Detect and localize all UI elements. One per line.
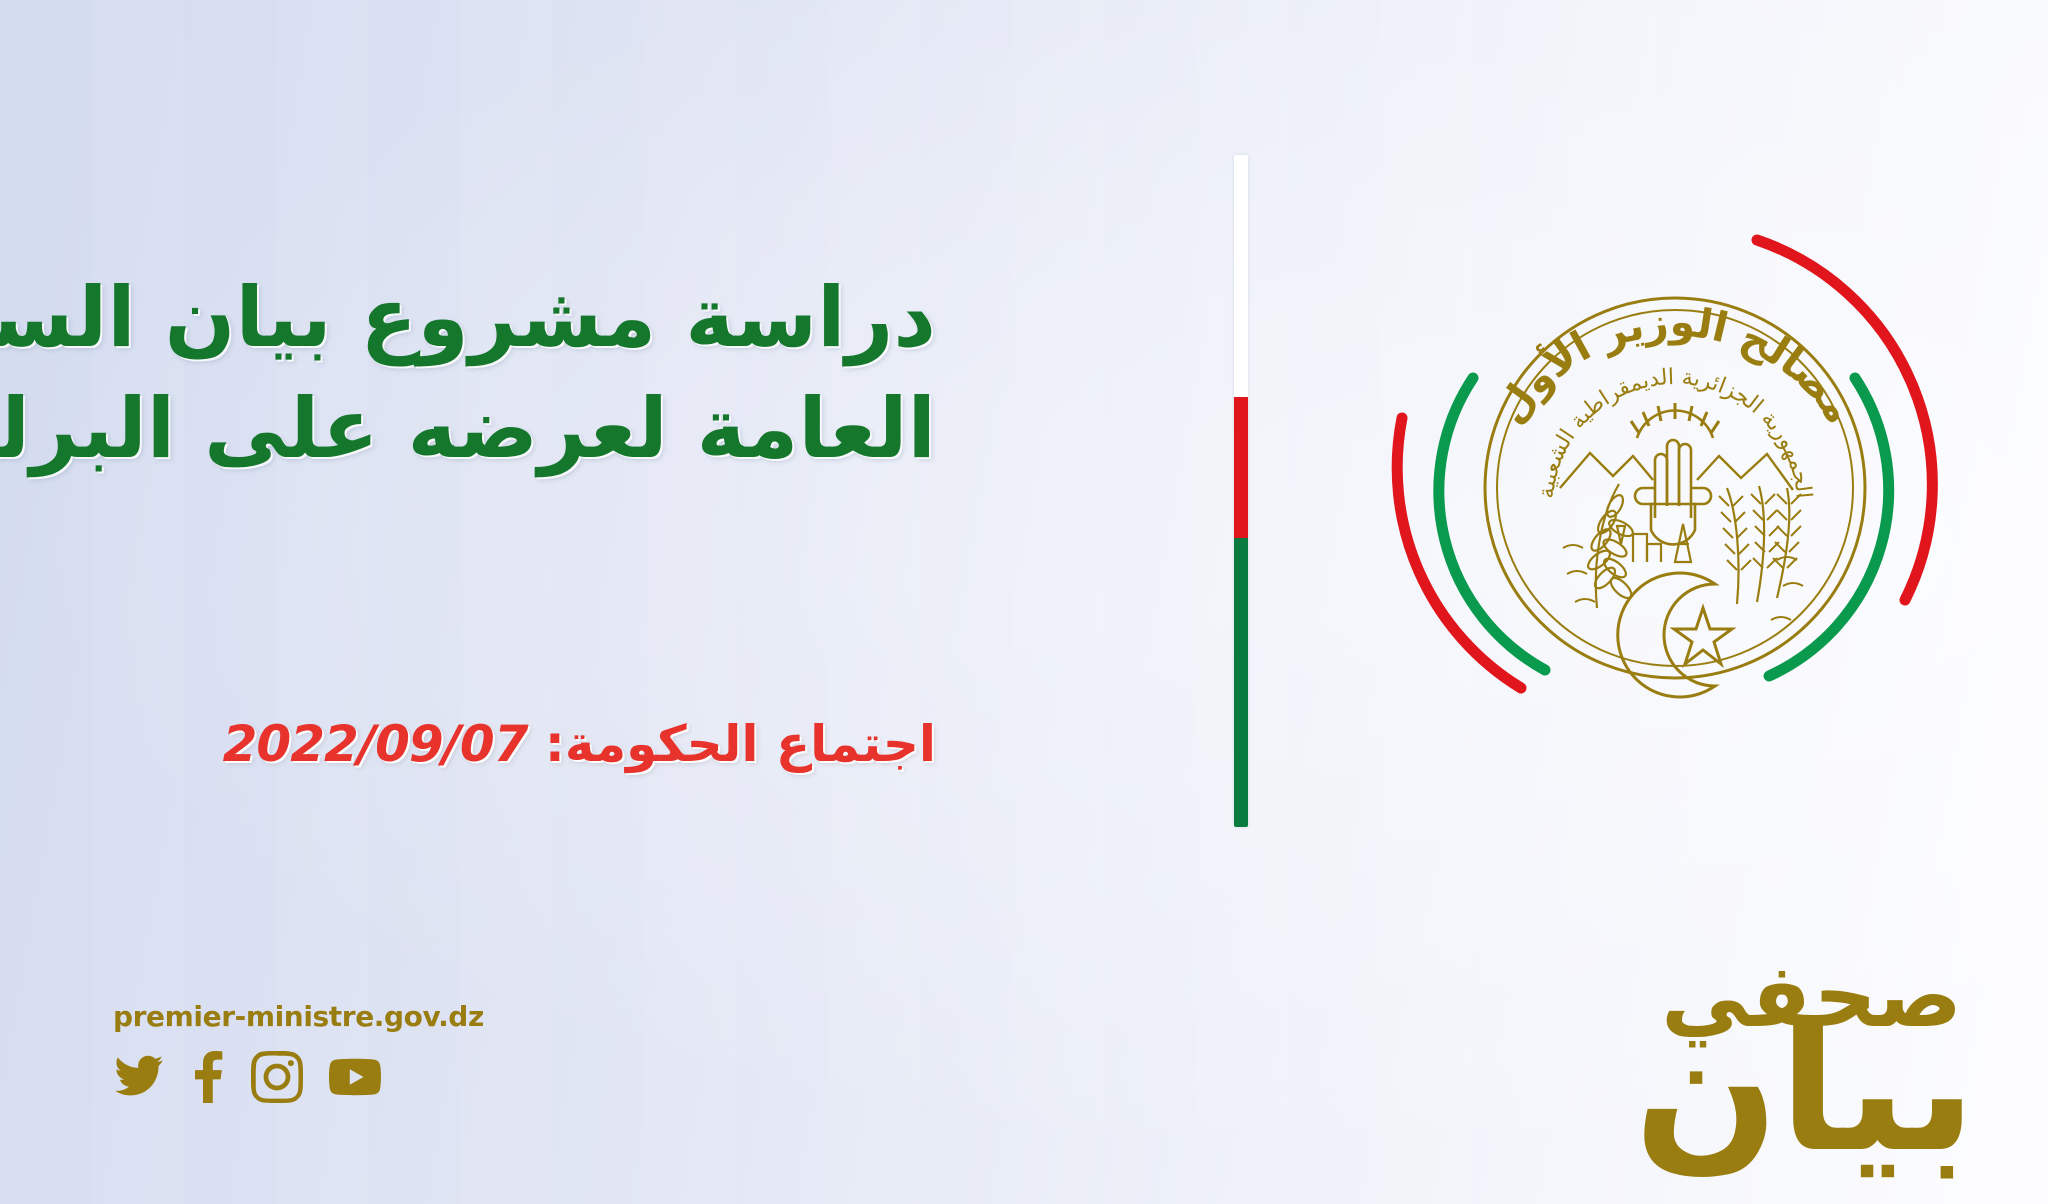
youtube-link[interactable] xyxy=(329,1051,381,1103)
emblem-sun-icon xyxy=(1631,403,1719,438)
divider-segment-green xyxy=(1234,538,1248,827)
tricolor-divider xyxy=(1234,155,1248,827)
emblem-inner-text: الجمهورية الجزائرية الديمقراطية الشعبية xyxy=(1534,365,1816,500)
website-url[interactable]: premier-ministre.gov.dz xyxy=(113,1000,484,1033)
headline-line-2: العامة لعرضه على البرلمان xyxy=(60,373,936,484)
facebook-icon[interactable] xyxy=(191,1051,225,1103)
headline-line-1: دراسة مشروع بيان السياسة xyxy=(60,262,936,373)
divider-segment-white xyxy=(1234,155,1248,397)
meeting-date-label: اجتماع الحكومة: xyxy=(545,715,936,773)
emblem-script-flourish xyxy=(1563,545,1803,620)
headline-block: دراسة مشروع بيان السياسة العامة لعرضه عل… xyxy=(60,262,936,484)
emblem-hand-of-fatima xyxy=(1635,440,1711,544)
algeria-prime-minister-emblem: مصالح الوزير الأول الجمهورية الجزائرية ا… xyxy=(1385,188,1965,768)
footer-left: premier-ministre.gov.dz xyxy=(113,1000,484,1103)
meeting-date-line: اجتماع الحكومة: 2022/09/07 xyxy=(60,715,936,773)
instagram-link[interactable] xyxy=(251,1051,303,1103)
facebook-link[interactable] xyxy=(191,1051,225,1103)
social-links-row xyxy=(113,1051,484,1103)
instagram-icon[interactable] xyxy=(251,1051,303,1103)
meeting-date-value: 2022/09/07 xyxy=(223,715,528,773)
divider-segment-red xyxy=(1234,397,1248,538)
emblem-arc-red-left xyxy=(1397,418,1521,688)
wordmark-bayan: بيان xyxy=(1634,1006,1976,1176)
emblem-industry xyxy=(1617,524,1691,562)
twitter-icon[interactable] xyxy=(113,1051,165,1103)
press-release-card: دراسة مشروع بيان السياسة العامة لعرضه عل… xyxy=(0,0,2048,1204)
youtube-icon[interactable] xyxy=(329,1051,381,1103)
twitter-link[interactable] xyxy=(113,1051,165,1103)
press-release-wordmark: صحفي بيان xyxy=(1634,952,1976,1176)
emblem-wheat-ears xyxy=(1719,486,1801,604)
emblem-mountains xyxy=(1560,453,1653,488)
emblem-olive-branch xyxy=(1585,484,1635,608)
